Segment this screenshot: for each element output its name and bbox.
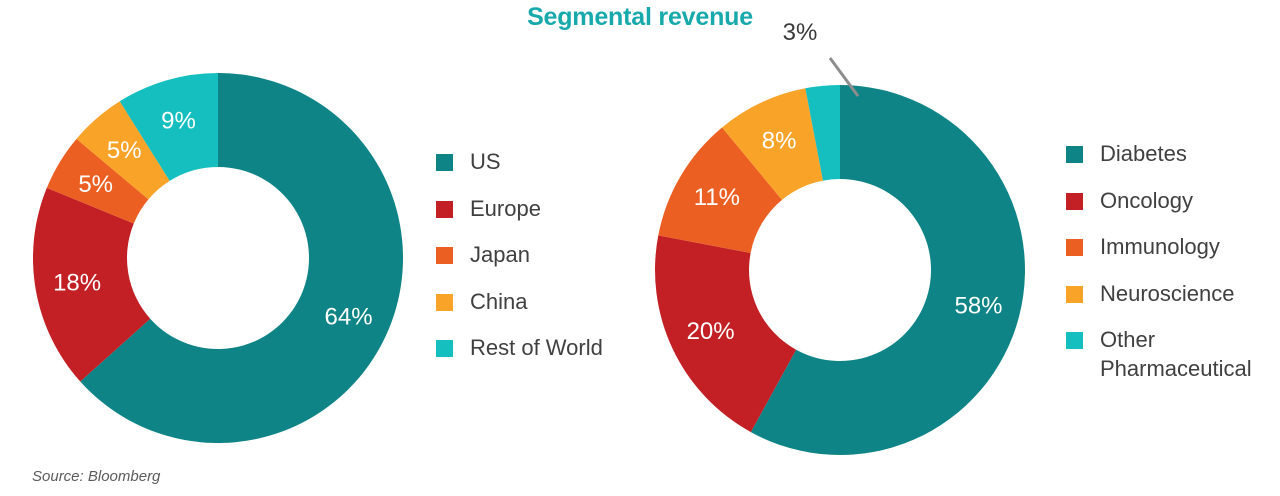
legend-swatch-icon xyxy=(436,201,453,218)
legend-therapy-area: DiabetesOncologyImmunologyNeuroscienceOt… xyxy=(1066,140,1252,402)
legend-item[interactable]: Oncology xyxy=(1066,187,1252,216)
legend-item[interactable]: US xyxy=(436,148,603,177)
legend-swatch-icon xyxy=(1066,332,1083,349)
legend-swatch-icon xyxy=(436,247,453,264)
legend-item[interactable]: Diabetes xyxy=(1066,140,1252,169)
legend-item[interactable]: Other Pharmaceutical xyxy=(1066,326,1252,383)
legend-item[interactable]: Japan xyxy=(436,241,603,270)
donut-slices-geography xyxy=(33,73,403,443)
legend-item-label: US xyxy=(470,148,501,177)
legend-item-label: Diabetes xyxy=(1100,140,1187,169)
donut-slices-therapy-area xyxy=(655,85,1025,455)
source-note: Source: Bloomberg xyxy=(32,468,160,485)
legend-item[interactable]: Immunology xyxy=(1066,233,1252,262)
slice-value-label: 18% xyxy=(53,269,101,296)
slice-value-label: 5% xyxy=(78,171,113,198)
legend-item[interactable]: Rest of World xyxy=(436,334,603,363)
legend-item-label: China xyxy=(470,288,527,317)
legend-swatch-icon xyxy=(1066,146,1083,163)
legend-item-label: Oncology xyxy=(1100,187,1193,216)
legend-item-label: Neuroscience xyxy=(1100,280,1235,309)
legend-geography: USEuropeJapanChinaRest of World xyxy=(436,148,603,381)
slice-value-label: 9% xyxy=(161,108,196,135)
legend-swatch-icon xyxy=(1066,239,1083,256)
legend-item-label: Immunology xyxy=(1100,233,1220,262)
slice-value-label: 64% xyxy=(325,303,373,330)
legend-item-label: Other Pharmaceutical xyxy=(1100,326,1252,383)
legend-item[interactable]: China xyxy=(436,288,603,317)
slice-value-label: 5% xyxy=(107,137,142,164)
slice-value-label: 8% xyxy=(762,128,797,155)
legend-swatch-icon xyxy=(1066,286,1083,303)
legend-swatch-icon xyxy=(1066,193,1083,210)
legend-item-label: Rest of World xyxy=(470,334,603,363)
legend-swatch-icon xyxy=(436,154,453,171)
legend-swatch-icon xyxy=(436,294,453,311)
legend-item[interactable]: Neuroscience xyxy=(1066,280,1252,309)
legend-swatch-icon xyxy=(436,340,453,357)
slice-value-label: 20% xyxy=(687,318,735,345)
legend-item[interactable]: Europe xyxy=(436,195,603,224)
slice-value-label: 11% xyxy=(694,184,740,211)
slice-callout-label: 3% xyxy=(783,19,818,46)
slice-value-label: 58% xyxy=(954,293,1002,320)
legend-item-label: Europe xyxy=(470,195,541,224)
legend-item-label: Japan xyxy=(470,241,530,270)
